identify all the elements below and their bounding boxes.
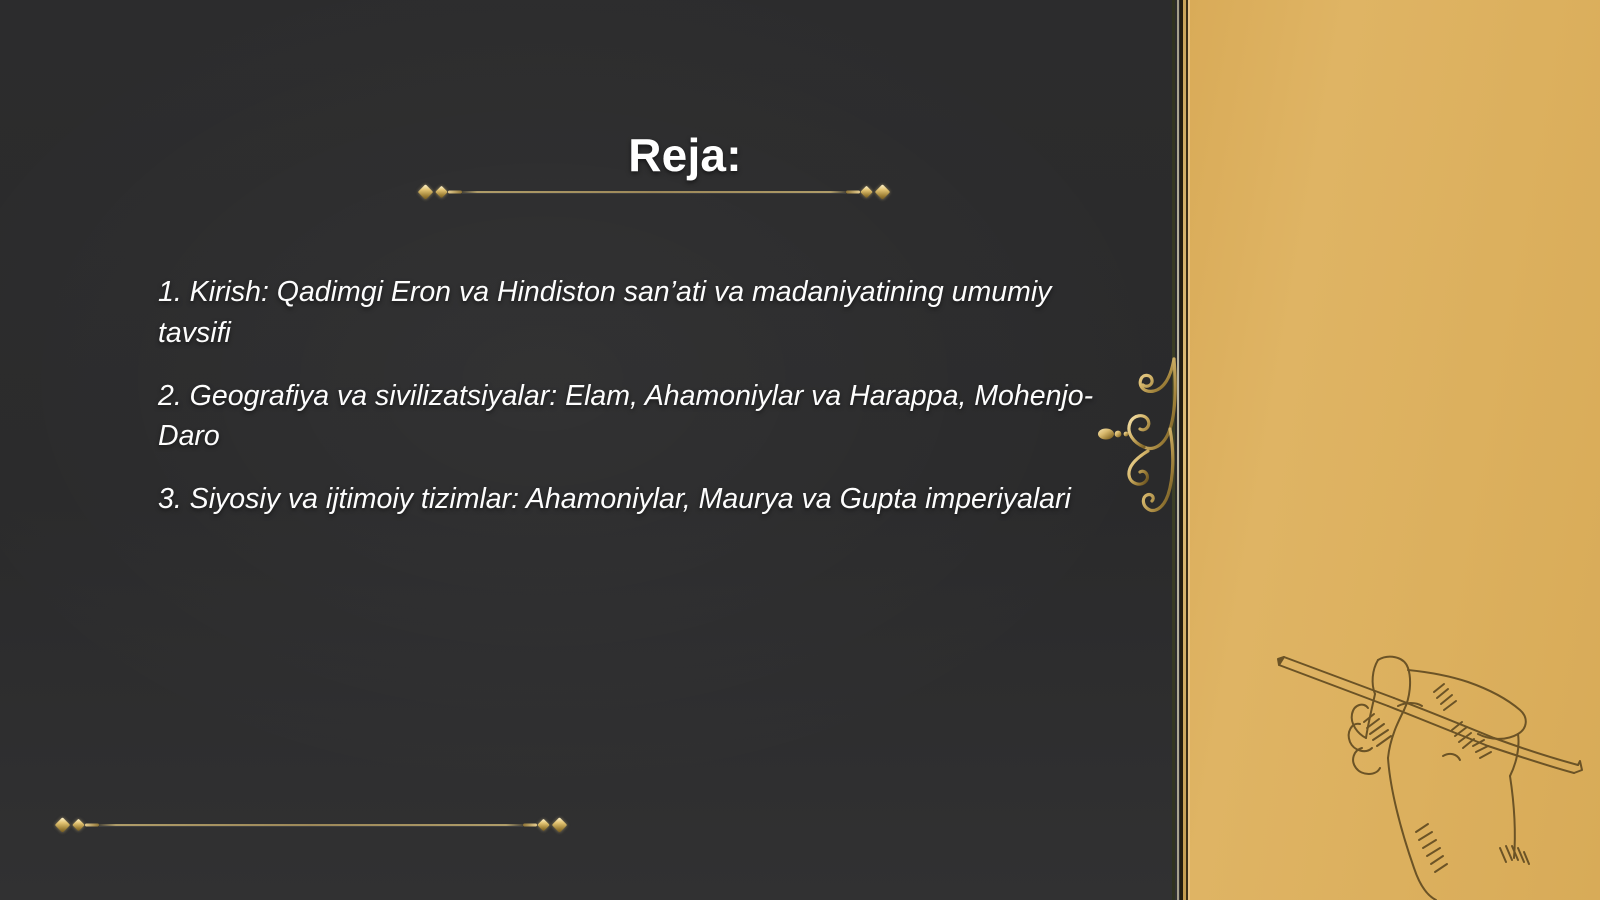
list-item: 3. Siyosiy va ijtimoiy tizimlar: Ahamoni… [158,479,1103,520]
divider-ornament-left-icon [418,186,462,198]
divider-ornament-left-icon [55,819,99,831]
agenda-list: 1. Kirish: Qadimgi Eron va Hindiston san… [158,272,1103,520]
divider-rule [99,824,523,826]
divider-ornament-right-icon [846,186,890,198]
title-divider [418,185,890,199]
hand-holding-pencil-icon [1238,618,1600,900]
scroll-flourish-icon [1096,355,1188,515]
list-item: 1. Kirish: Qadimgi Eron va Hindiston san… [158,272,1103,354]
list-item: 2. Geografiya va sivilizatsiyalar: Elam,… [158,376,1103,458]
divider-rule [462,191,846,193]
presentation-slide: Reja: 1. Kirish: Qadimgi Eron va Hindist… [0,0,1600,900]
divider-line-gold-thin [1188,0,1190,900]
page-title: Reja: [250,128,1120,182]
bottom-divider [55,818,567,832]
divider-ornament-right-icon [523,819,567,831]
